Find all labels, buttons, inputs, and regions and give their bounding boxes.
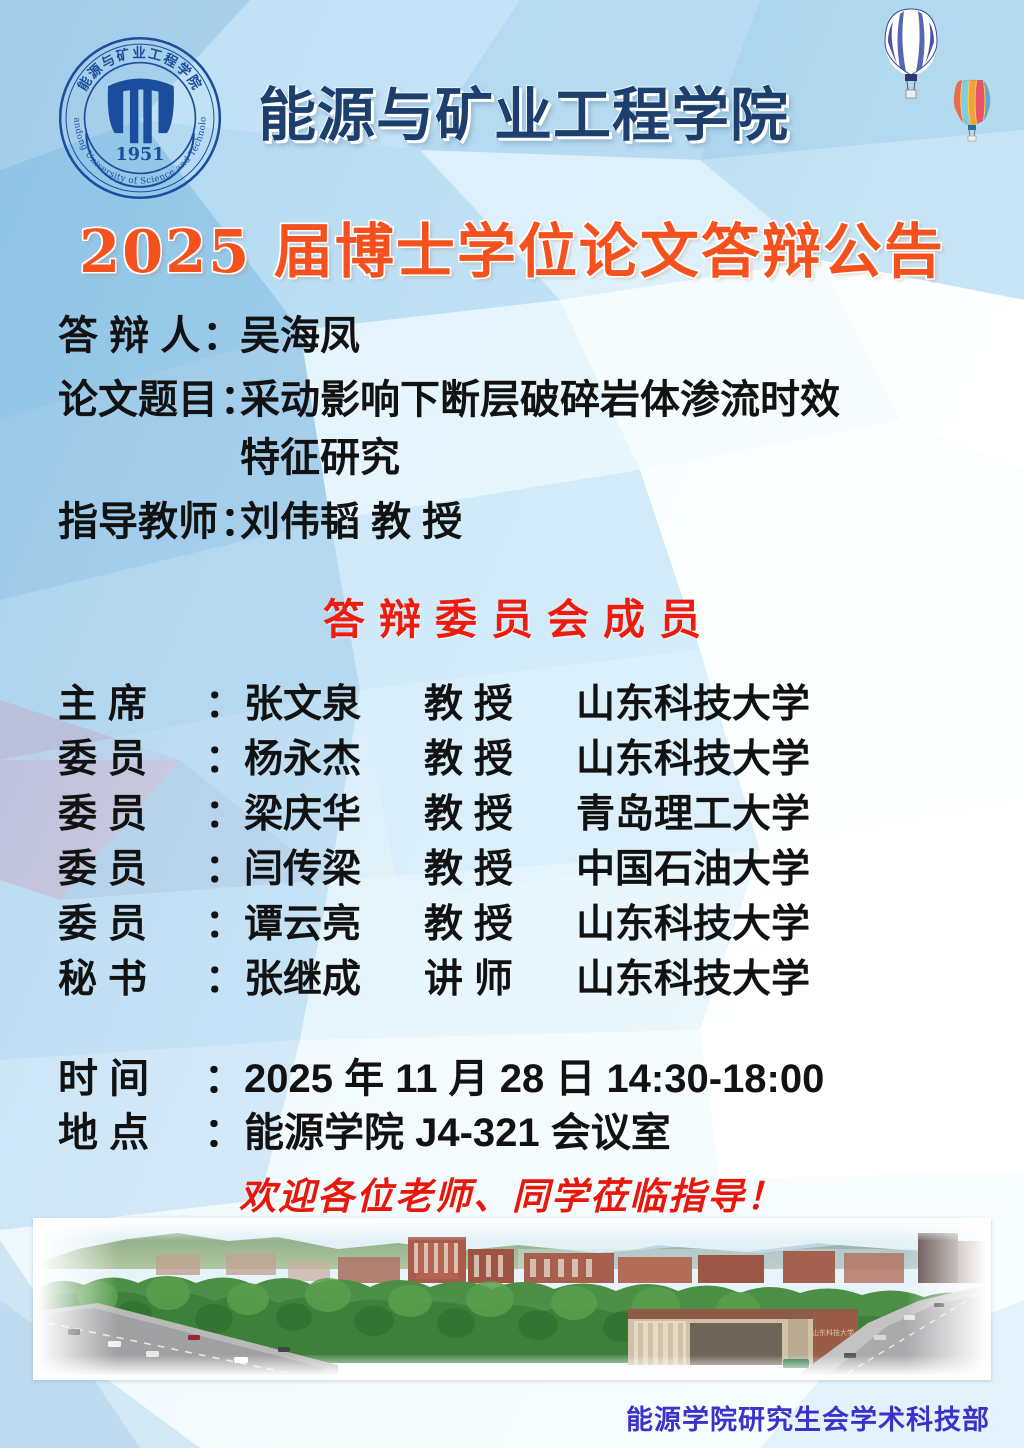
committee-rank: 教 授 [424,893,576,949]
committee-university: 山东科技大学 [576,948,958,1004]
welcome-message: 欢迎各位老师、同学莅临指导！ [0,1166,1024,1220]
table-row: 秘 书： 张继成 讲 师 山东科技大学 [58,948,958,1003]
info-label-presenter: 答 辩 人： [58,308,240,364]
info-value-thesis-title: 采动影响下断层破碎岩体渗流时效 [240,372,840,428]
committee-role: 委 员： [58,838,244,894]
campus-aerial-photo: 山东科技大学 [33,1218,991,1380]
committee-role: 委 员： [58,783,244,839]
info-label-thesis-title: 论文题目： [58,372,240,428]
committee-university: 青岛理工大学 [576,783,958,839]
committee-name: 张继成 [244,948,424,1004]
defense-info-block: 答 辩 人： 吴海凤 论文题目： 采动影响下断层破碎岩体渗流时效 特征研究 指导… [58,308,958,558]
table-row: 委 员： 谭云亮 教 授 山东科技大学 [58,893,958,948]
college-name-heading: 能源与矿业工程学院 [258,68,878,152]
table-row: 主 席： 张文泉 教 授 山东科技大学 [58,673,958,728]
committee-university: 山东科技大学 [576,728,958,784]
info-row-supervisor: 指导教师： 刘伟韬 教 授 [58,494,958,550]
committee-rank: 讲 师 [424,948,576,1004]
committee-name: 张文泉 [244,673,424,729]
table-row: 委 员： 梁庆华 教 授 青岛理工大学 [58,783,958,838]
committee-role: 委 员： [58,893,244,949]
committee-name: 闫传梁 [244,838,424,894]
info-label-supervisor: 指导教师： [58,494,240,550]
schedule-row-time: 时 间： 2025 年 11 月 28 日 14:30-18:00 [58,1046,958,1100]
schedule-value-location: 能源学院 J4-321 会议室 [244,1100,671,1158]
info-row-presenter: 答 辩 人： 吴海凤 [58,308,958,364]
committee-name: 杨永杰 [244,728,424,784]
committee-university: 中国石油大学 [576,838,958,894]
committee-section-heading: 答辩委员会成员 [0,586,1024,647]
svg-text:山东科技大学: 山东科技大学 [812,1328,854,1337]
committee-name: 谭云亮 [244,893,424,949]
committee-role: 委 员： [58,728,244,784]
footer-department: 能源学院研究生会学术科技部 [626,1398,990,1437]
schedule-value-time: 2025 年 11 月 28 日 14:30-18:00 [244,1046,824,1104]
info-row-thesis-title: 论文题目： 采动影响下断层破碎岩体渗流时效 [58,372,958,428]
committee-name: 梁庆华 [244,783,424,839]
page-title: 2025 届博士学位论文答辩公告 [0,204,1024,289]
schedule-block: 时 间： 2025 年 11 月 28 日 14:30-18:00 地 点： 能… [58,1046,958,1154]
logo-year: 1951 [115,144,164,165]
committee-rank: 教 授 [424,838,576,894]
hot-air-balloon-rainbow-icon [950,78,994,142]
schedule-label-time: 时 间： [58,1046,244,1104]
committee-rank: 教 授 [424,783,576,839]
committee-rank: 教 授 [424,728,576,784]
info-value-supervisor: 刘伟韬 教 授 [240,494,462,550]
schedule-label-location: 地 点： [58,1100,244,1158]
info-value-presenter: 吴海凤 [240,308,360,364]
committee-member-table: 主 席： 张文泉 教 授 山东科技大学 委 员： 杨永杰 教 授 山东科技大学 … [58,673,958,1003]
committee-role: 秘 书： [58,948,244,1004]
committee-university: 山东科技大学 [576,893,958,949]
committee-rank: 教 授 [424,673,576,729]
table-row: 委 员： 闫传梁 教 授 中国石油大学 [58,838,958,893]
defense-announcement-poster: 1951 能源与矿业工程学院 Shandong University of Sc… [0,0,1024,1448]
committee-university: 山东科技大学 [576,673,958,729]
university-logo: 1951 能源与矿业工程学院 Shandong University of Sc… [56,34,224,202]
hot-air-balloon-blue-icon [880,8,942,100]
info-value-thesis-title-cont: 特征研究 [58,430,958,486]
table-row: 委 员： 杨永杰 教 授 山东科技大学 [58,728,958,783]
schedule-row-location: 地 点： 能源学院 J4-321 会议室 [58,1100,958,1154]
committee-role: 主 席： [58,673,244,729]
